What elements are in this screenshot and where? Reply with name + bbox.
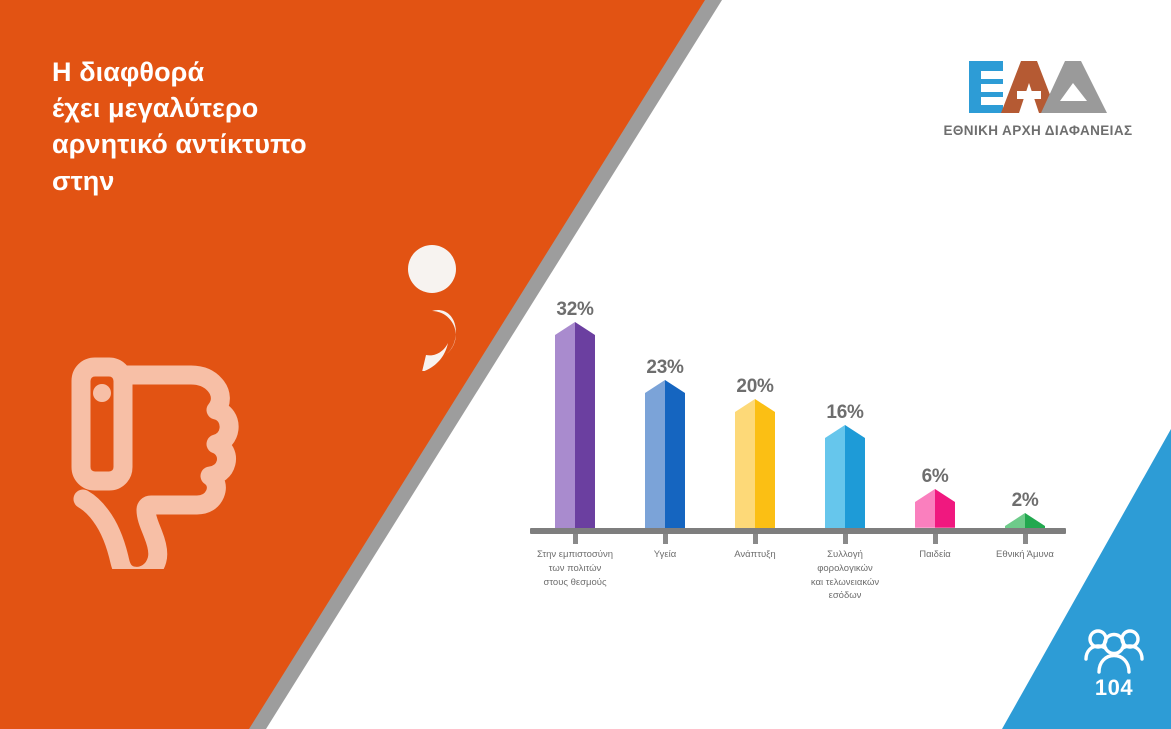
axis-tick xyxy=(933,534,938,544)
bar-value-label: 32% xyxy=(556,300,593,319)
bar-value-label: 2% xyxy=(1012,491,1039,510)
category-label-line: των πολιτών xyxy=(515,562,635,576)
logo-title: ΕΘΝΙΚΗ ΑΡΧΗ ΔΙΑΦΑΝΕΙΑΣ xyxy=(933,123,1143,138)
headline-line-1: Η διαφθορά xyxy=(52,54,412,90)
bar-shape xyxy=(645,380,685,528)
bar-column: 2% xyxy=(982,491,1068,528)
thumbs-down-icon xyxy=(48,345,266,569)
respondents-count: 104 xyxy=(1074,677,1154,699)
bar-chart: 32%23%20%16%6%2% Στην εμπιστοσύνητων πολ… xyxy=(500,280,1100,620)
category-labels: Στην εμπιστοσύνητων πολιτώνστους θεσμούς… xyxy=(500,548,1100,618)
respondents-badge: 104 xyxy=(1074,628,1154,710)
bar-shape xyxy=(825,425,865,528)
headline-line-2: έχει μεγαλύτερο xyxy=(52,90,412,126)
category-label-line: Εθνική Άμυνα xyxy=(965,548,1085,562)
semicolon-glyph-icon xyxy=(404,243,468,371)
category-label-line: και τελωνειακών xyxy=(785,576,905,590)
headline-line-3: αρνητικό αντίκτυπο xyxy=(52,126,412,162)
category-label: Εθνική Άμυνα xyxy=(965,548,1085,562)
chart-axis-line xyxy=(530,528,1066,534)
bar-shape xyxy=(1005,513,1045,528)
bar-shape xyxy=(735,399,775,528)
headline: Η διαφθορά έχει μεγαλύτερο αρνητικό αντί… xyxy=(52,54,412,199)
category-label-line: στους θεσμούς xyxy=(515,576,635,590)
bar-shape xyxy=(915,489,955,528)
axis-tick xyxy=(1023,534,1028,544)
bar-column: 20% xyxy=(712,377,798,528)
bar-value-label: 23% xyxy=(646,358,683,377)
bars-container: 32%23%20%16%6%2% xyxy=(500,280,1100,534)
bar-column: 6% xyxy=(892,467,978,528)
axis-tick xyxy=(663,534,668,544)
category-label-line: φορολογικών xyxy=(785,562,905,576)
infographic-canvas: Η διαφθορά έχει μεγαλύτερο αρνητικό αντί… xyxy=(0,0,1171,729)
axis-tick xyxy=(753,534,758,544)
category-label-line: εσόδων xyxy=(785,589,905,603)
bar-value-label: 6% xyxy=(922,467,949,486)
headline-line-4: στην xyxy=(52,163,412,199)
bar-column: 32% xyxy=(532,300,618,528)
logo-mark-icon xyxy=(967,57,1109,117)
bar-value-label: 20% xyxy=(736,377,773,396)
axis-tick xyxy=(573,534,578,544)
organization-logo: ΕΘΝΙΚΗ ΑΡΧΗ ΔΙΑΦΑΝΕΙΑΣ xyxy=(933,57,1143,153)
group-of-people-icon xyxy=(1083,628,1145,674)
bar-column: 16% xyxy=(802,403,888,528)
axis-tick xyxy=(843,534,848,544)
bar-value-label: 16% xyxy=(826,403,863,422)
bar-shape xyxy=(555,322,595,528)
bar-column: 23% xyxy=(622,358,708,528)
